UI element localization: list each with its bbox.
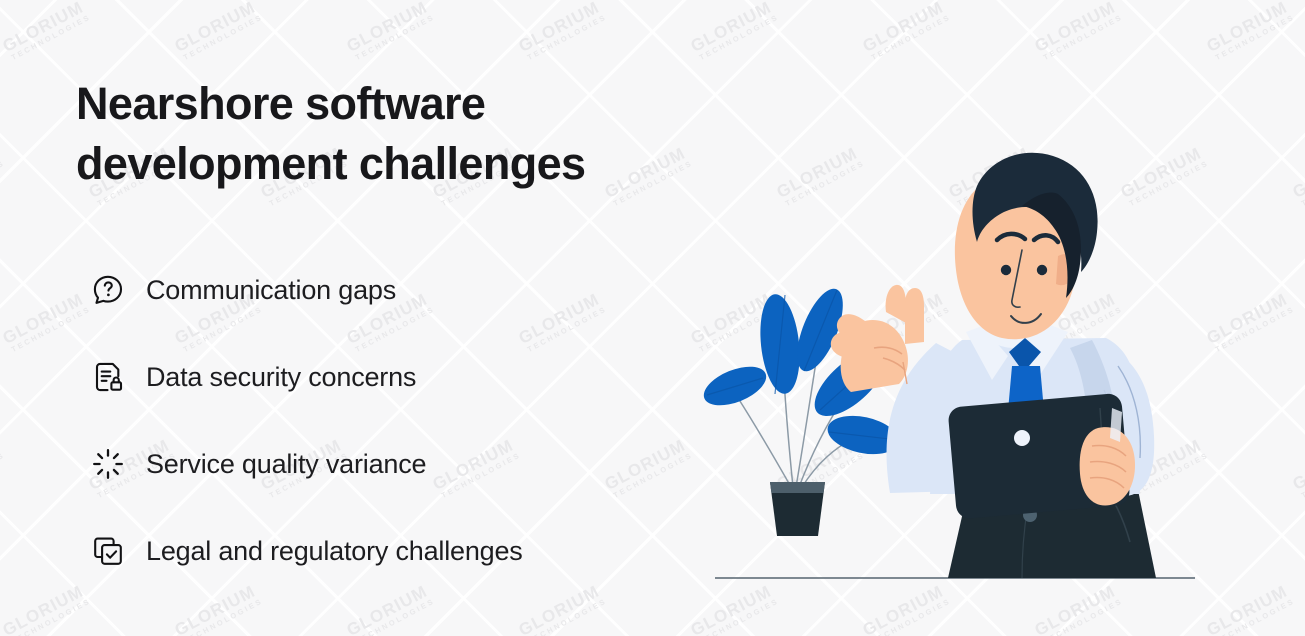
watermark: GLORIUMTECHNOLOGIES xyxy=(516,0,608,63)
watermark: GLORIUMTECHNOLOGIES xyxy=(516,289,608,354)
stacked-squares-check-icon xyxy=(88,531,128,571)
businessman-figure xyxy=(831,153,1156,578)
watermark: GLORIUMTECHNOLOGIES xyxy=(516,581,608,636)
list-item-label: Data security concerns xyxy=(146,362,416,393)
document-lock-icon xyxy=(88,357,128,397)
list-item-label: Communication gaps xyxy=(146,275,396,306)
watermark: GLORIUMTECHNOLOGIES xyxy=(688,0,780,63)
watermark: GLORIUMTECHNOLOGIES xyxy=(1290,143,1305,208)
list-item-data-security-concerns: Data security concerns xyxy=(88,353,523,401)
eye-left xyxy=(1001,265,1011,275)
tablet-camera-dot xyxy=(1014,430,1030,446)
watermark: GLORIUMTECHNOLOGIES xyxy=(172,0,264,63)
plant-pot-rim xyxy=(770,482,825,493)
watermark: GLORIUMTECHNOLOGIES xyxy=(344,581,436,636)
left-content-column: Nearshore software development challenge… xyxy=(76,74,696,194)
watermark: GLORIUMTECHNOLOGIES xyxy=(172,581,264,636)
list-item-legal-and-regulatory-challenges: Legal and regulatory challenges xyxy=(88,527,523,575)
speech-bubble-question-icon xyxy=(88,270,128,310)
list-item-label: Service quality variance xyxy=(146,449,426,480)
watermark: GLORIUMTECHNOLOGIES xyxy=(1290,435,1305,500)
slide-canvas: GLORIUMTECHNOLOGIESGLORIUMTECHNOLOGIESGL… xyxy=(0,0,1305,636)
watermark: GLORIUMTECHNOLOGIES xyxy=(0,0,92,63)
watermark: GLORIUMTECHNOLOGIES xyxy=(602,435,694,500)
watermark: GLORIUMTECHNOLOGIES xyxy=(344,0,436,63)
head xyxy=(955,153,1098,339)
list-item-communication-gaps: Communication gaps xyxy=(88,266,523,314)
list-item-service-quality-variance: Service quality variance xyxy=(88,440,523,488)
watermark: GLORIUMTECHNOLOGIES xyxy=(860,0,952,63)
page-title: Nearshore software development challenge… xyxy=(76,74,696,194)
eye-right xyxy=(1037,265,1047,275)
watermark: GLORIUMTECHNOLOGIES xyxy=(0,435,6,500)
watermark: GLORIUMTECHNOLOGIES xyxy=(0,143,6,208)
spinner-burst-icon xyxy=(88,444,128,484)
list-item-label: Legal and regulatory challenges xyxy=(146,536,523,567)
watermark: GLORIUMTECHNOLOGIES xyxy=(1032,0,1124,63)
businessman-pointing-illustration xyxy=(700,90,1220,590)
watermark: GLORIUMTECHNOLOGIES xyxy=(0,581,92,636)
watermark: GLORIUMTECHNOLOGIES xyxy=(1204,0,1296,63)
index-finger xyxy=(905,288,924,344)
watermark: GLORIUMTECHNOLOGIES xyxy=(0,289,92,354)
challenge-list: Communication gaps Data security concern… xyxy=(88,266,523,575)
